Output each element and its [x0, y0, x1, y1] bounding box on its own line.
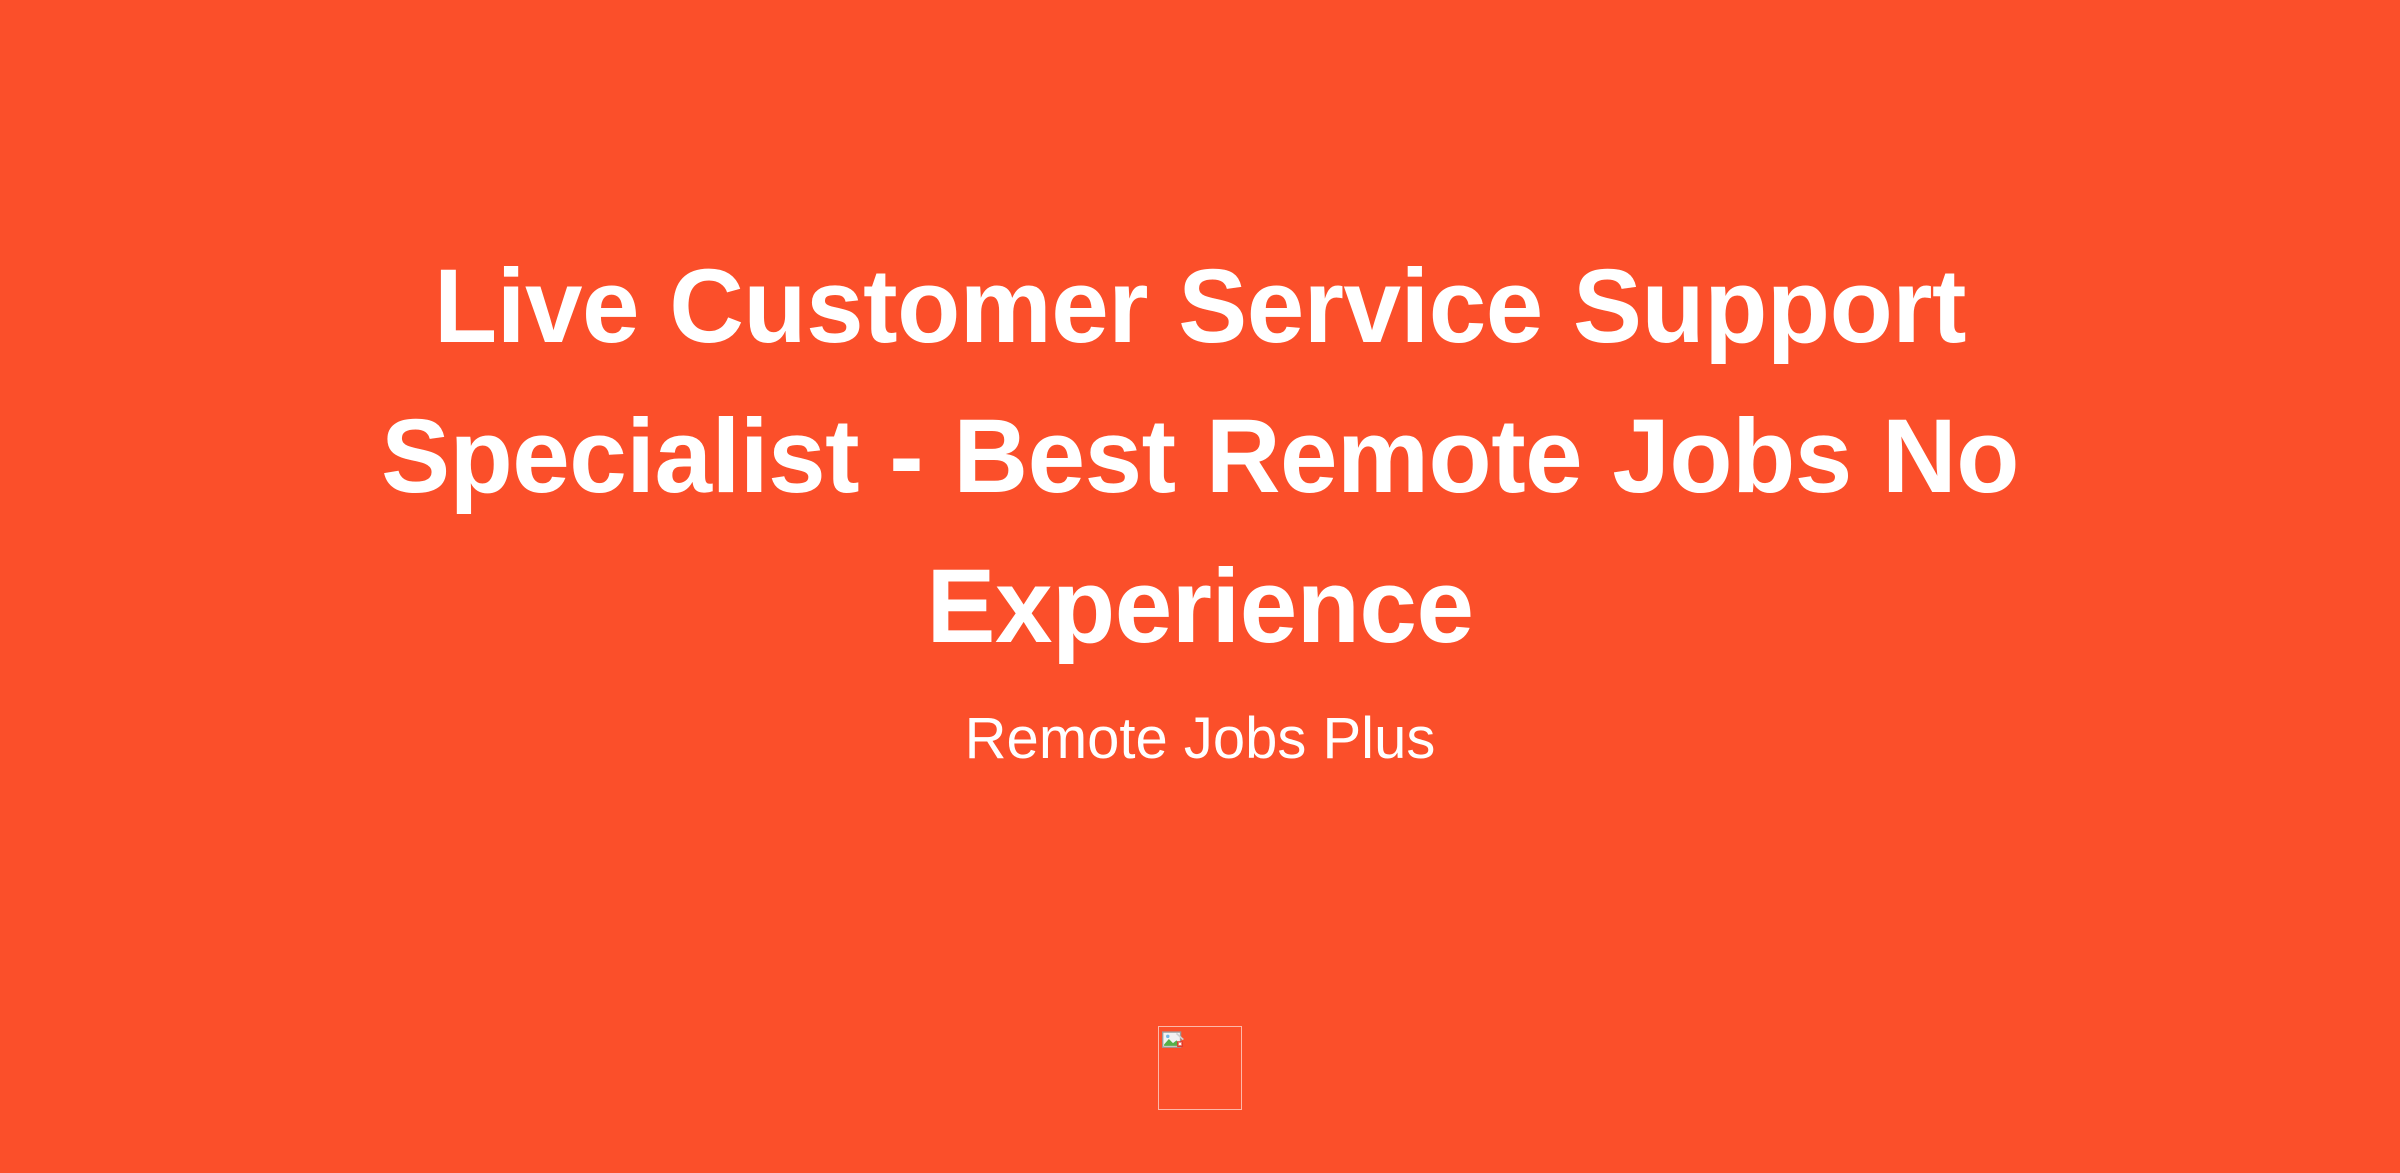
page-title: Live Customer Service Support Specialist…	[18, 232, 2382, 682]
media-placeholder-container	[0, 1026, 2400, 1110]
page-root: Live Customer Service Support Specialist…	[0, 0, 2400, 1173]
page-subtitle: Remote Jobs Plus	[0, 682, 2400, 777]
hero-content: Live Customer Service Support Specialist…	[0, 0, 2400, 777]
broken-image-icon	[1162, 1030, 1184, 1052]
broken-image-placeholder	[1158, 1026, 1242, 1110]
